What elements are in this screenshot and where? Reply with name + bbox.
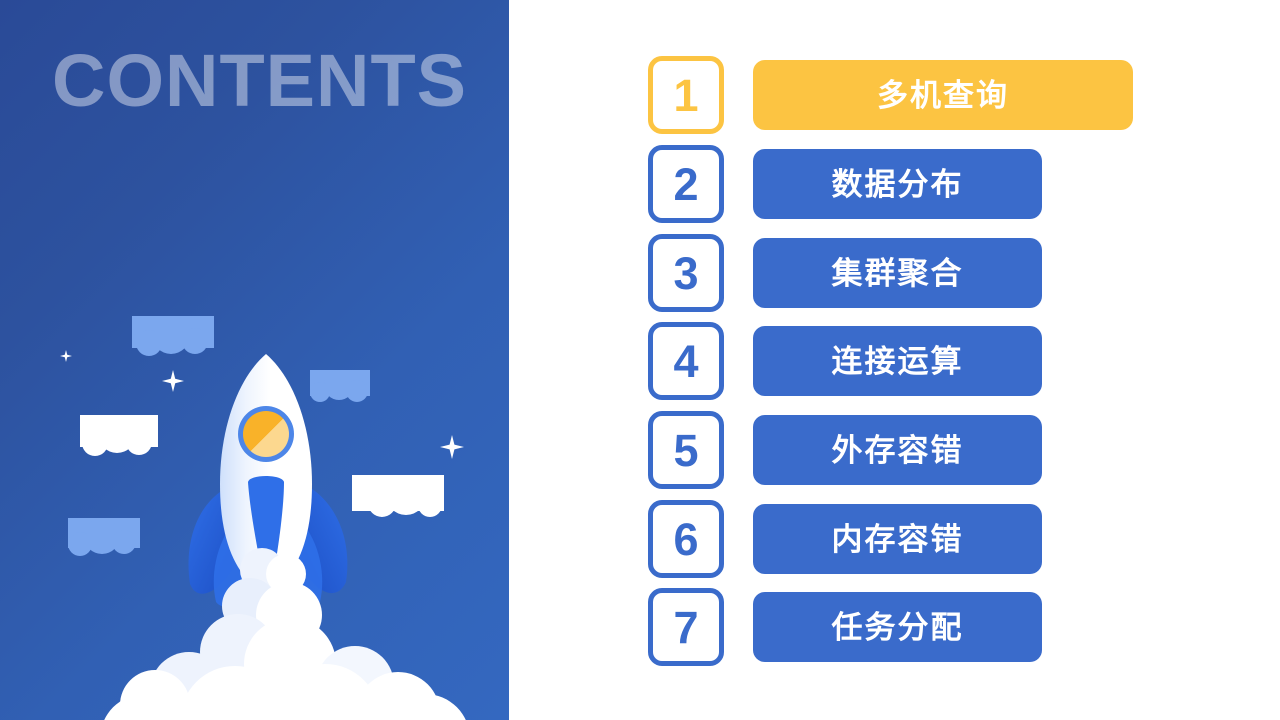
toc-label-6: 内存容错	[832, 524, 964, 555]
toc-number-4: 4	[673, 339, 698, 384]
cloud-light-blue-upper-left-icon	[132, 316, 214, 348]
toc-number-2: 2	[673, 162, 698, 207]
cloud-light-blue-bottom-left-icon	[68, 518, 140, 548]
toc-bar-5[interactable]: 外存容错	[753, 415, 1042, 485]
toc-item-3[interactable]: 3 集群聚合	[648, 234, 1280, 316]
cloud-white-mid-left-icon	[80, 415, 158, 447]
toc-number-5: 5	[673, 428, 698, 473]
toc-label-5: 外存容错	[832, 435, 964, 466]
left-illustration-panel: CONTENTS	[0, 0, 509, 720]
toc-item-5[interactable]: 5 外存容错	[648, 411, 1280, 493]
page-title: CONTENTS	[52, 44, 467, 118]
table-of-contents-list: 1 多机查询 2 数据分布 3 集群聚合 4	[648, 0, 1280, 720]
toc-number-box-1[interactable]: 1	[648, 56, 724, 134]
toc-item-1[interactable]: 1 多机查询	[648, 56, 1280, 138]
toc-number-1: 1	[673, 73, 698, 118]
toc-label-1: 多机查询	[877, 80, 1009, 111]
toc-number-6: 6	[673, 517, 698, 562]
toc-label-2: 数据分布	[832, 169, 964, 200]
toc-bar-4[interactable]: 连接运算	[753, 326, 1042, 396]
toc-item-4[interactable]: 4 连接运算	[648, 322, 1280, 404]
toc-label-7: 任务分配	[832, 612, 964, 643]
toc-number-3: 3	[673, 251, 698, 296]
toc-number-box-4[interactable]: 4	[648, 322, 724, 400]
toc-bar-2[interactable]: 数据分布	[753, 149, 1042, 219]
toc-bar-3[interactable]: 集群聚合	[753, 238, 1042, 308]
toc-bar-6[interactable]: 内存容错	[753, 504, 1042, 574]
toc-item-6[interactable]: 6 内存容错	[648, 500, 1280, 582]
toc-number-box-2[interactable]: 2	[648, 145, 724, 223]
toc-bar-1[interactable]: 多机查询	[753, 60, 1133, 130]
toc-label-3: 集群聚合	[832, 258, 964, 289]
sparkle-star-right-icon	[440, 435, 464, 459]
toc-number-box-7[interactable]: 7	[648, 588, 724, 666]
toc-number-box-3[interactable]: 3	[648, 234, 724, 312]
toc-number-box-5[interactable]: 5	[648, 411, 724, 489]
toc-item-7[interactable]: 7 任务分配	[648, 588, 1280, 670]
toc-bar-7[interactable]: 任务分配	[753, 592, 1042, 662]
toc-label-4: 连接运算	[832, 346, 964, 377]
toc-number-box-6[interactable]: 6	[648, 500, 724, 578]
toc-number-7: 7	[673, 605, 698, 650]
rocket-exhaust-plume-icon	[120, 548, 450, 720]
presentation-slide: CONTENTS	[0, 0, 1280, 720]
sparkle-star-small-icon	[60, 350, 72, 362]
toc-item-2[interactable]: 2 数据分布	[648, 145, 1280, 227]
